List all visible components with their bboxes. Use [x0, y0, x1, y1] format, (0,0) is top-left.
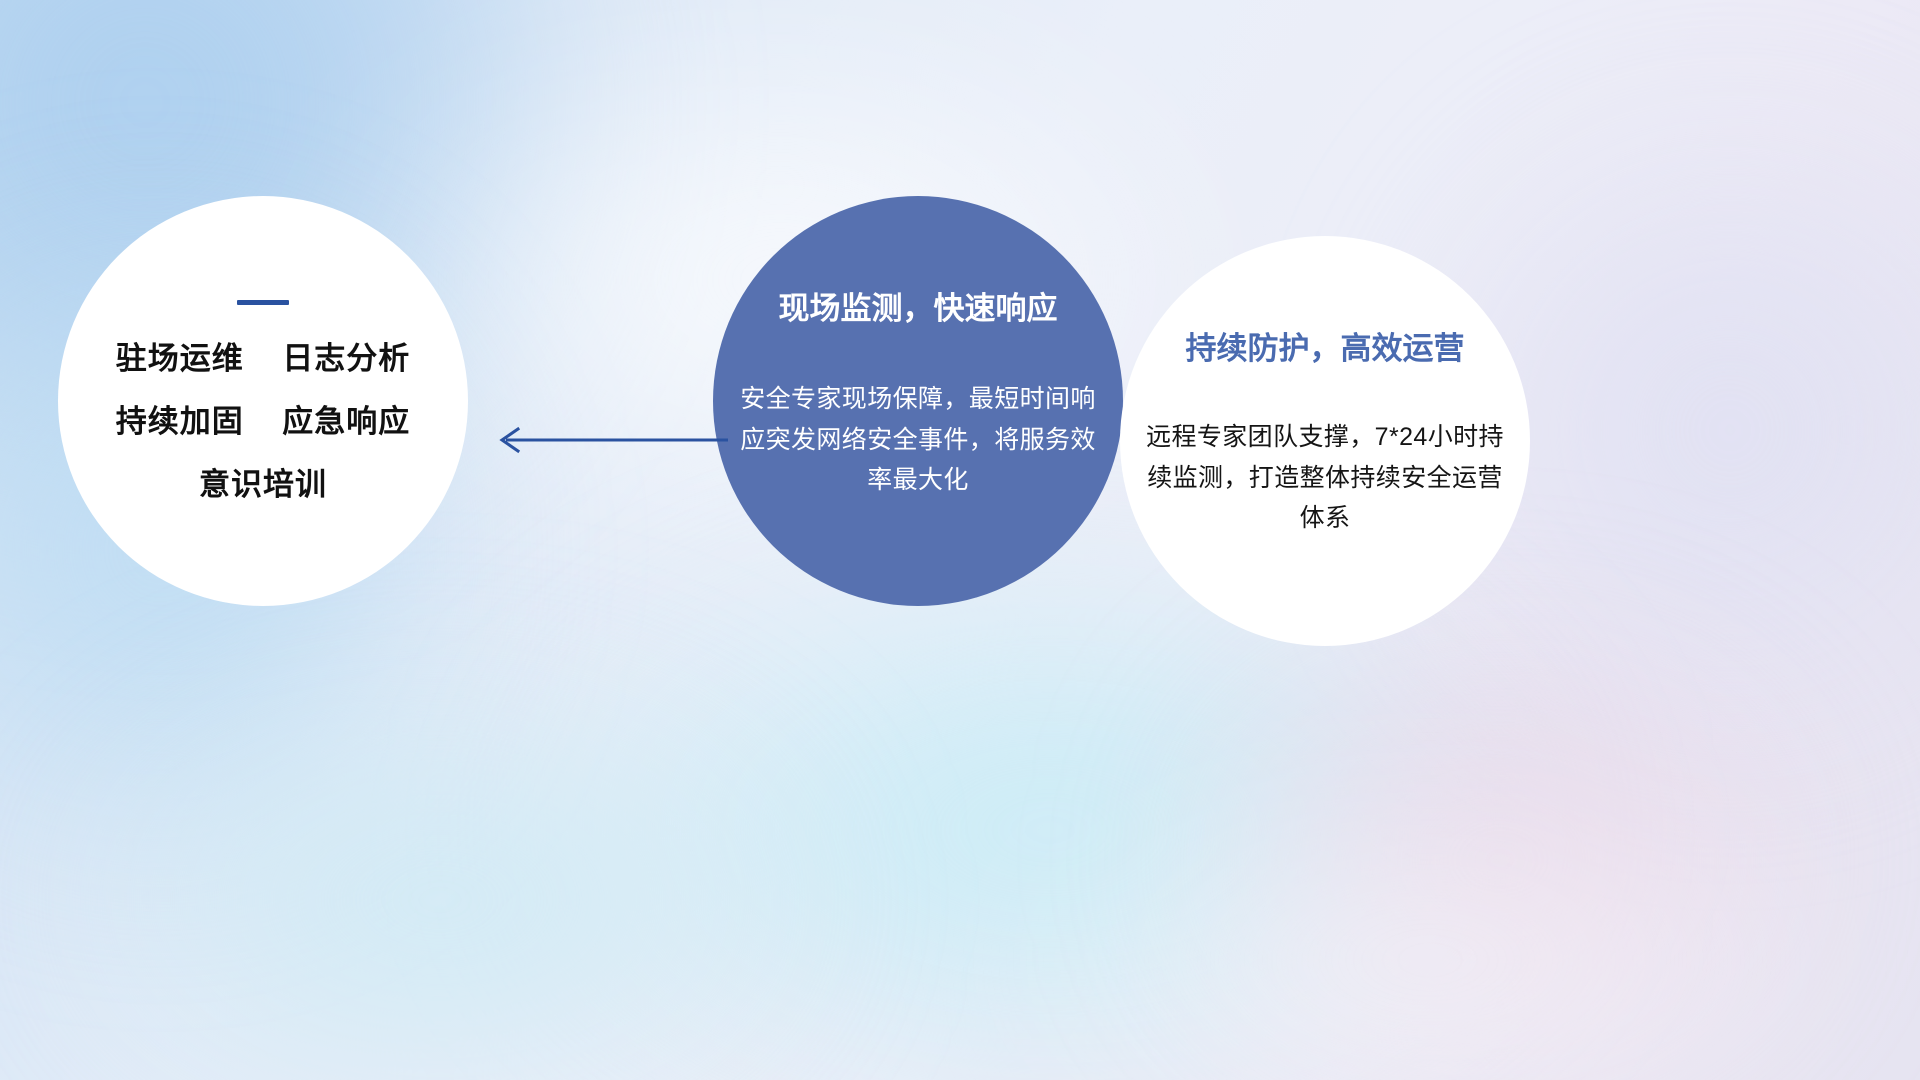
left-circle-content: 驻场运维 日志分析 持续加固 应急响应 意识培训 [58, 300, 468, 500]
left-circle-line-2: 持续加固 应急响应 [58, 406, 468, 437]
right-circle-title: 持续防护，高效运营 [1126, 330, 1524, 367]
left-circle-line-3: 意识培训 [58, 469, 468, 500]
middle-circle-content: 现场监测，快速响应 安全专家现场保障，最短时间响应突发网络安全事件，将服务效率最… [713, 290, 1123, 501]
slide-canvas: 驻场运维 日志分析 持续加固 应急响应 意识培训 现场监测，快速响应 安全专家现… [0, 0, 1920, 1080]
middle-circle-body: 安全专家现场保障，最短时间响应突发网络安全事件，将服务效率最大化 [723, 379, 1113, 501]
middle-circle-title: 现场监测，快速响应 [723, 290, 1113, 327]
left-circle-line-1: 驻场运维 日志分析 [58, 343, 468, 374]
right-circle-body: 远程专家团队支撑，7*24小时持续监测，打造整体持续安全运营体系 [1126, 417, 1524, 539]
accent-bar-icon [237, 300, 289, 305]
right-circle-content: 持续防护，高效运营 远程专家团队支撑，7*24小时持续监测，打造整体持续安全运营… [1120, 330, 1530, 539]
arrow-left-icon [480, 418, 730, 462]
